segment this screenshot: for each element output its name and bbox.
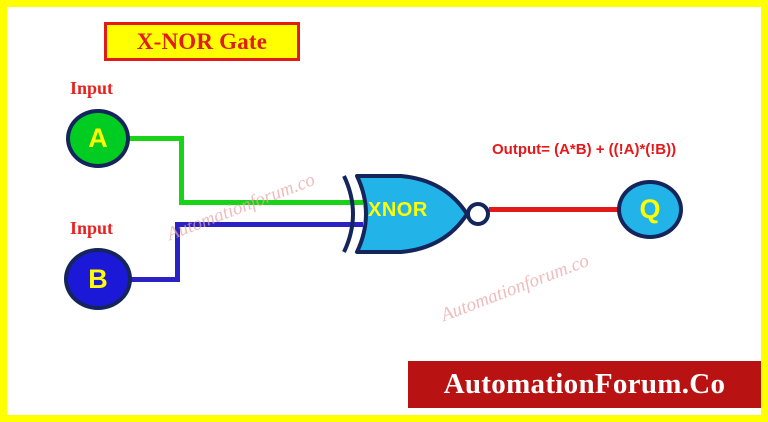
brand-banner: AutomationForum.Co bbox=[408, 361, 761, 408]
xor-extra-arc bbox=[344, 176, 353, 252]
wire-b-segment-horizontal-1 bbox=[124, 277, 180, 282]
input-node-b-letter: B bbox=[88, 266, 108, 293]
watermark-1: Automationforum.co bbox=[164, 169, 318, 246]
input-node-b: B bbox=[64, 248, 132, 310]
brand-banner-text: AutomationForum.Co bbox=[444, 368, 726, 401]
diagram-title-box: X-NOR Gate bbox=[104, 22, 300, 61]
diagram-canvas: X-NOR Gate Input A Input B XNOR Output= … bbox=[0, 0, 768, 422]
inversion-bubble-icon bbox=[468, 204, 488, 224]
gate-label: XNOR bbox=[368, 199, 428, 222]
output-node-q: Q bbox=[617, 180, 683, 239]
page-title: X-NOR Gate bbox=[137, 29, 267, 55]
wire-a-segment-horizontal-2 bbox=[179, 200, 363, 205]
output-node-q-letter: Q bbox=[639, 196, 660, 223]
input-a-label: Input bbox=[70, 78, 113, 99]
input-b-label: Input bbox=[70, 218, 113, 239]
wire-a-segment-vertical bbox=[179, 136, 184, 205]
wire-output-q bbox=[489, 207, 622, 212]
output-formula: Output= (A*B) + ((!A)*(!B)) bbox=[492, 141, 676, 158]
wire-a-segment-horizontal-1 bbox=[122, 136, 184, 141]
input-node-a-letter: A bbox=[88, 125, 108, 152]
watermark-2: Automationforum.co bbox=[438, 250, 592, 327]
wire-b-segment-horizontal-2 bbox=[175, 222, 363, 227]
wire-b-segment-vertical bbox=[175, 222, 180, 282]
input-node-a: A bbox=[66, 109, 130, 168]
